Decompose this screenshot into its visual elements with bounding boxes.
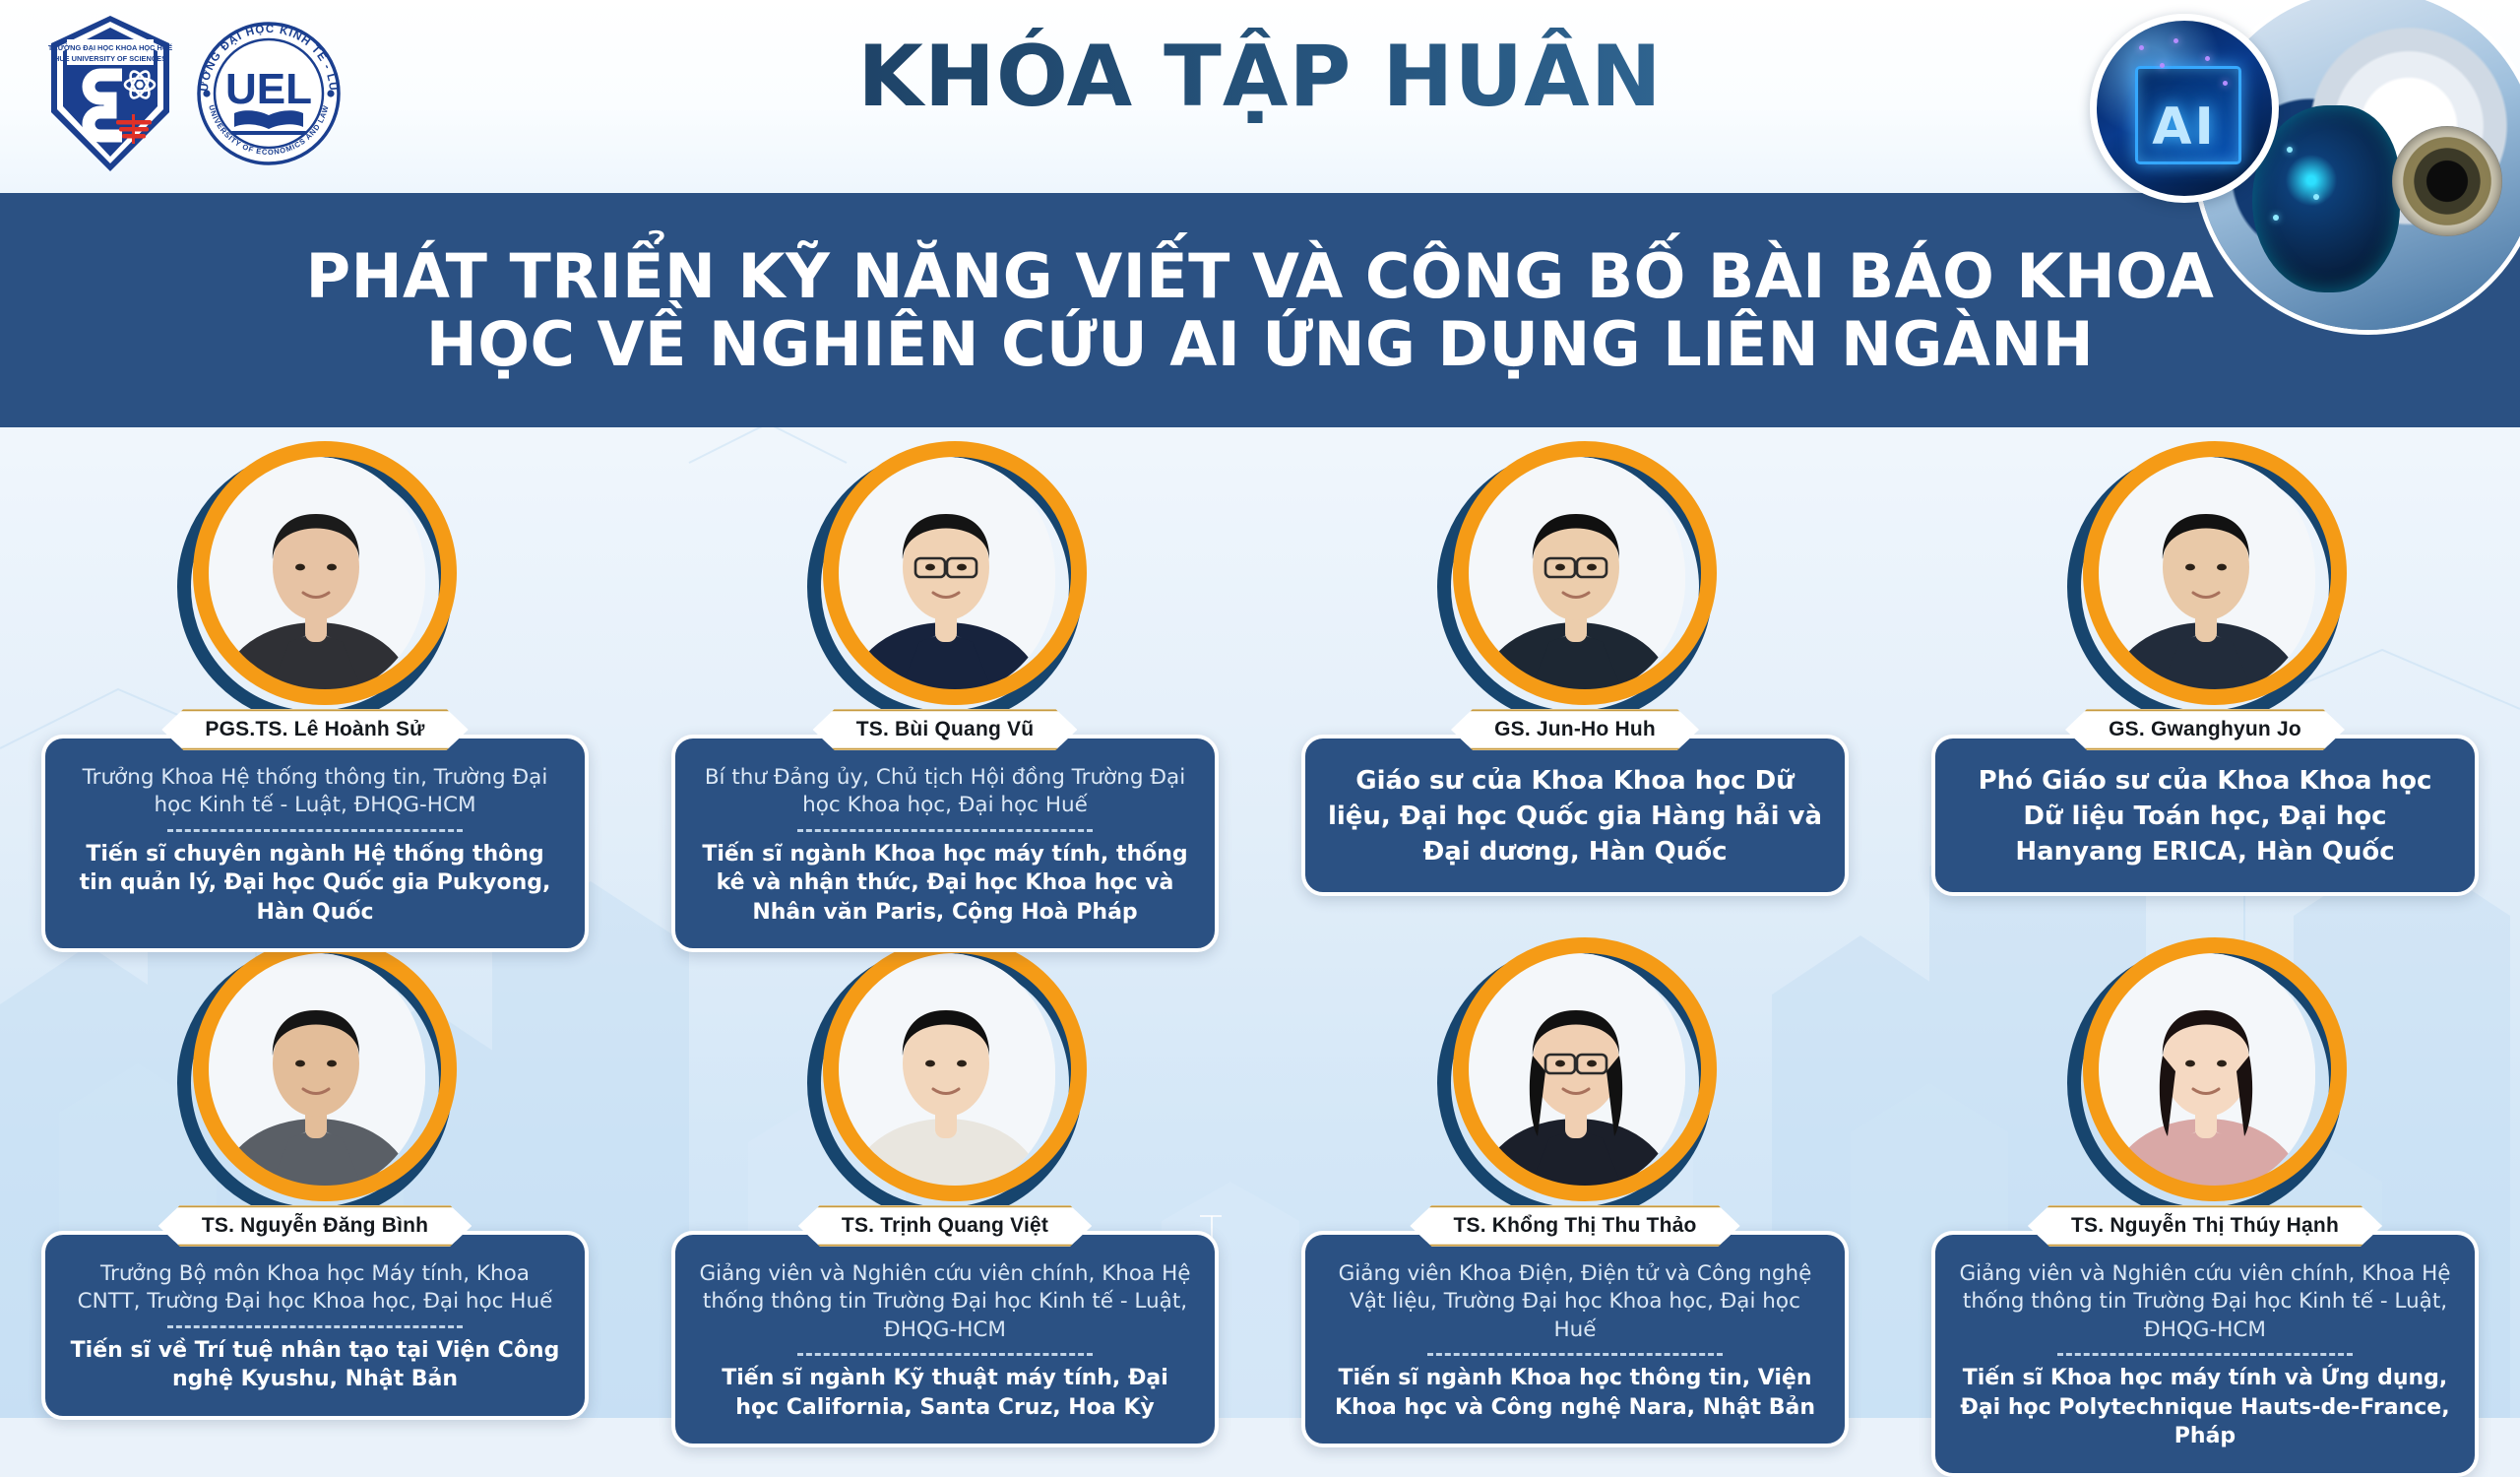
speaker-degree: Tiến sĩ về Trí tuệ nhân tạo tại Viện Côn… <box>67 1336 563 1394</box>
avatar <box>807 449 1083 725</box>
speaker-info-card: Bí thư Đảng ủy, Chủ tịch Hội đồng Trường… <box>671 735 1219 952</box>
banner-line-2: HỌC VỀ NGHIÊN CỨU AI ỨNG DỤNG LIÊN NGÀNH <box>426 310 2094 378</box>
speaker-degree: Phó Giáo sư của Khoa Khoa học Dữ liệu To… <box>1957 764 2453 870</box>
speaker-name: TS. Khổng Thị Thu Thảo <box>1453 1214 1696 1237</box>
speaker-info-card: Giảng viên và Nghiên cứu viên chính, Kho… <box>671 1231 1219 1447</box>
avatar <box>807 945 1083 1221</box>
speaker-name: PGS.TS. Lê Hoành Sử <box>205 718 424 740</box>
speaker-card: GS. Gwanghyun Jo Phó Giáo sư của Khoa Kh… <box>1890 433 2520 916</box>
avatar-ring-orange <box>193 937 457 1201</box>
speaker-info-card: Giáo sư của Khoa Khoa học Dữ liệu, Đại h… <box>1301 735 1849 896</box>
speaker-degree: Tiến sĩ Khoa học máy tính và Ứng dụng, Đ… <box>1957 1364 2453 1450</box>
speaker-degree: Tiến sĩ ngành Kỹ thuật máy tính, Đại học… <box>697 1364 1193 1422</box>
banner-line-1: PHÁT TRIỂN KỸ NĂNG VIẾT VÀ CÔNG BỐ BÀI B… <box>306 242 2215 310</box>
speaker-role: Giảng viên và Nghiên cứu viên chính, Kho… <box>697 1260 1193 1344</box>
avatar-ring-orange <box>193 441 457 705</box>
avatar-ring-orange <box>1453 441 1717 705</box>
ai-artwork-group: AI <box>2057 0 2520 492</box>
speaker-info-card: Phó Giáo sư của Khoa Khoa học Dữ liệu To… <box>1931 735 2479 896</box>
divider <box>797 1353 1093 1356</box>
speaker-card: GS. Jun-Ho Huh Giáo sư của Khoa Khoa học… <box>1260 433 1890 916</box>
avatar-ring-orange <box>823 441 1087 705</box>
ai-chip-image: AI <box>2090 14 2279 203</box>
avatar <box>177 449 453 725</box>
speaker-name-badge: TS. Nguyễn Đăng Bình <box>158 1205 472 1247</box>
avatar-ring-orange <box>2083 937 2347 1201</box>
speaker-role: Giảng viên Khoa Điện, Điện tử và Công ng… <box>1327 1260 1823 1344</box>
divider <box>1427 1353 1723 1356</box>
speaker-role: Bí thư Đảng ủy, Chủ tịch Hội đồng Trường… <box>697 764 1193 820</box>
speaker-info-card: Trưởng Bộ môn Khoa học Máy tính, Khoa CN… <box>41 1231 589 1420</box>
avatar <box>1437 945 1713 1221</box>
ai-badge-label: AI <box>2097 97 2272 157</box>
speaker-card: TS. Trịnh Quang Việt Giảng viên và Nghiê… <box>630 930 1260 1402</box>
robot-eye-lens <box>2392 126 2502 236</box>
speaker-degree: Giáo sư của Khoa Khoa học Dữ liệu, Đại h… <box>1327 764 1823 870</box>
speaker-role: Trưởng Khoa Hệ thống thông tin, Trường Đ… <box>67 764 563 820</box>
speaker-degree: Tiến sĩ chuyên ngành Hệ thống thông tin … <box>67 840 563 927</box>
speaker-card: TS. Nguyễn Đăng Bình Trưởng Bộ môn Khoa … <box>0 930 630 1402</box>
speaker-name-badge: TS. Nguyễn Thị Thúy Hạnh <box>2028 1205 2382 1247</box>
divider <box>167 829 463 832</box>
speaker-name: TS. Nguyễn Đăng Bình <box>202 1214 428 1237</box>
divider <box>797 829 1093 832</box>
speaker-card: TS. Nguyễn Thị Thúy Hạnh Giảng viên và N… <box>1890 930 2520 1402</box>
speaker-name: TS. Bùi Quang Vũ <box>856 718 1035 740</box>
speaker-role: Giảng viên và Nghiên cứu viên chính, Kho… <box>1957 1260 2453 1344</box>
speaker-name-badge: PGS.TS. Lê Hoành Sử <box>161 709 468 750</box>
speaker-name: GS. Gwanghyun Jo <box>2109 718 2301 740</box>
speaker-card: TS. Bùi Quang Vũ Bí thư Đảng ủy, Chủ tịc… <box>630 433 1260 916</box>
speaker-name-badge: TS. Khổng Thị Thu Thảo <box>1410 1205 1739 1247</box>
speaker-name: TS. Trịnh Quang Việt <box>842 1214 1048 1237</box>
avatar <box>2067 945 2343 1221</box>
avatar <box>177 945 453 1221</box>
avatar-ring-orange <box>1453 937 1717 1201</box>
speaker-info-card: Trưởng Khoa Hệ thống thông tin, Trường Đ… <box>41 735 589 952</box>
speaker-name-badge: TS. Bùi Quang Vũ <box>813 709 1078 750</box>
avatar <box>1437 449 1713 725</box>
speaker-name: GS. Jun-Ho Huh <box>1494 718 1656 740</box>
speaker-info-card: Giảng viên và Nghiên cứu viên chính, Kho… <box>1931 1231 2479 1477</box>
speaker-degree: Tiến sĩ ngành Khoa học thông tin, Viện K… <box>1327 1364 1823 1422</box>
speaker-degree: Tiến sĩ ngành Khoa học máy tính, thống k… <box>697 840 1193 927</box>
speaker-card: TS. Khổng Thị Thu Thảo Giảng viên Khoa Đ… <box>1260 930 1890 1402</box>
speaker-name: TS. Nguyễn Thị Thúy Hạnh <box>2071 1214 2339 1237</box>
speaker-grid: PGS.TS. Lê Hoành Sử Trưởng Khoa Hệ thống… <box>0 433 2520 1402</box>
speaker-card: PGS.TS. Lê Hoành Sử Trưởng Khoa Hệ thống… <box>0 433 630 916</box>
divider <box>167 1325 463 1328</box>
speaker-role: Trưởng Bộ môn Khoa học Máy tính, Khoa CN… <box>67 1260 563 1316</box>
avatar-ring-orange <box>823 937 1087 1201</box>
speaker-info-card: Giảng viên Khoa Điện, Điện tử và Công ng… <box>1301 1231 1849 1447</box>
speaker-name-badge: GS. Jun-Ho Huh <box>1451 709 1699 750</box>
speaker-name-badge: GS. Gwanghyun Jo <box>2065 709 2345 750</box>
divider <box>2057 1353 2353 1356</box>
speaker-name-badge: TS. Trịnh Quang Việt <box>798 1205 1092 1247</box>
